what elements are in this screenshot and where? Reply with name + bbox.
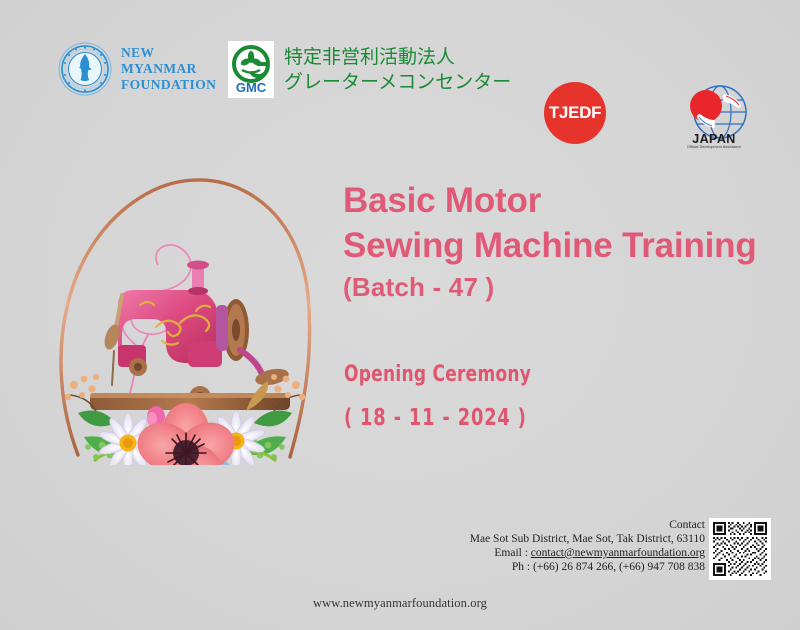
event-date: ( 18 - 11 - 2024 ) <box>344 405 527 431</box>
logo-bar: NEW MYANMAR FOUNDATION GMC <box>0 36 800 116</box>
gmc-jp-line2: グレーターメコンセンター <box>284 70 511 95</box>
headline-block: Basic Motor Sewing Machine Training (Bat… <box>343 178 783 306</box>
svg-text:GMC: GMC <box>236 80 267 95</box>
title-line-2: Sewing Machine Training <box>343 223 783 268</box>
contact-email-line: Email : contact@newmyanmarfoundation.org <box>455 546 705 560</box>
sewing-machine-floral-wreath-illustration <box>40 145 330 465</box>
japan-label: JAPAN <box>676 132 752 146</box>
gmc-jp-line1: 特定非営利活動法人 <box>284 45 511 70</box>
nmf-wordmark: NEW MYANMAR FOUNDATION <box>121 45 216 93</box>
tjedf-logo: TJEDF <box>544 82 606 144</box>
gmc-japanese-text: 特定非営利活動法人 グレーターメコンセンター <box>284 45 511 95</box>
japan-sublabel: Official Development Assistance <box>662 145 766 149</box>
title-batch: (Batch - 47 ) <box>343 268 783 306</box>
nmf-seal-icon <box>58 42 112 96</box>
contact-block: Contact Mae Sot Sub District, Mae Sot, T… <box>455 518 705 574</box>
title-line-1: Basic Motor <box>343 178 783 223</box>
nmf-word-new: NEW <box>121 45 216 61</box>
contact-label: Contact <box>455 518 705 532</box>
opening-ceremony-label: Opening Ceremony <box>344 362 531 387</box>
gmc-logo: GMC 特定非営利活動法人 グレーターメコンセンター <box>228 41 511 98</box>
new-myanmar-foundation-logo: NEW MYANMAR FOUNDATION <box>58 42 216 96</box>
poster-canvas: NEW MYANMAR FOUNDATION GMC <box>0 0 800 630</box>
nmf-word-foundation: FOUNDATION <box>121 77 216 93</box>
contact-email-link[interactable]: contact@newmyanmarfoundation.org <box>531 547 705 559</box>
tjedf-label: TJEDF <box>549 103 601 123</box>
contact-phone: Ph : (+66) 26 874 266, (+66) 947 708 838 <box>455 560 705 574</box>
qr-code[interactable] <box>709 518 771 580</box>
gmc-mark-icon: GMC <box>228 41 274 98</box>
contact-address: Mae Sot Sub District, Mae Sot, Tak Distr… <box>455 532 705 546</box>
contact-email-prefix: Email : <box>494 547 530 559</box>
website-footer[interactable]: www.newmyanmarfoundation.org <box>0 596 800 611</box>
nmf-word-myanmar: MYANMAR <box>121 61 216 77</box>
